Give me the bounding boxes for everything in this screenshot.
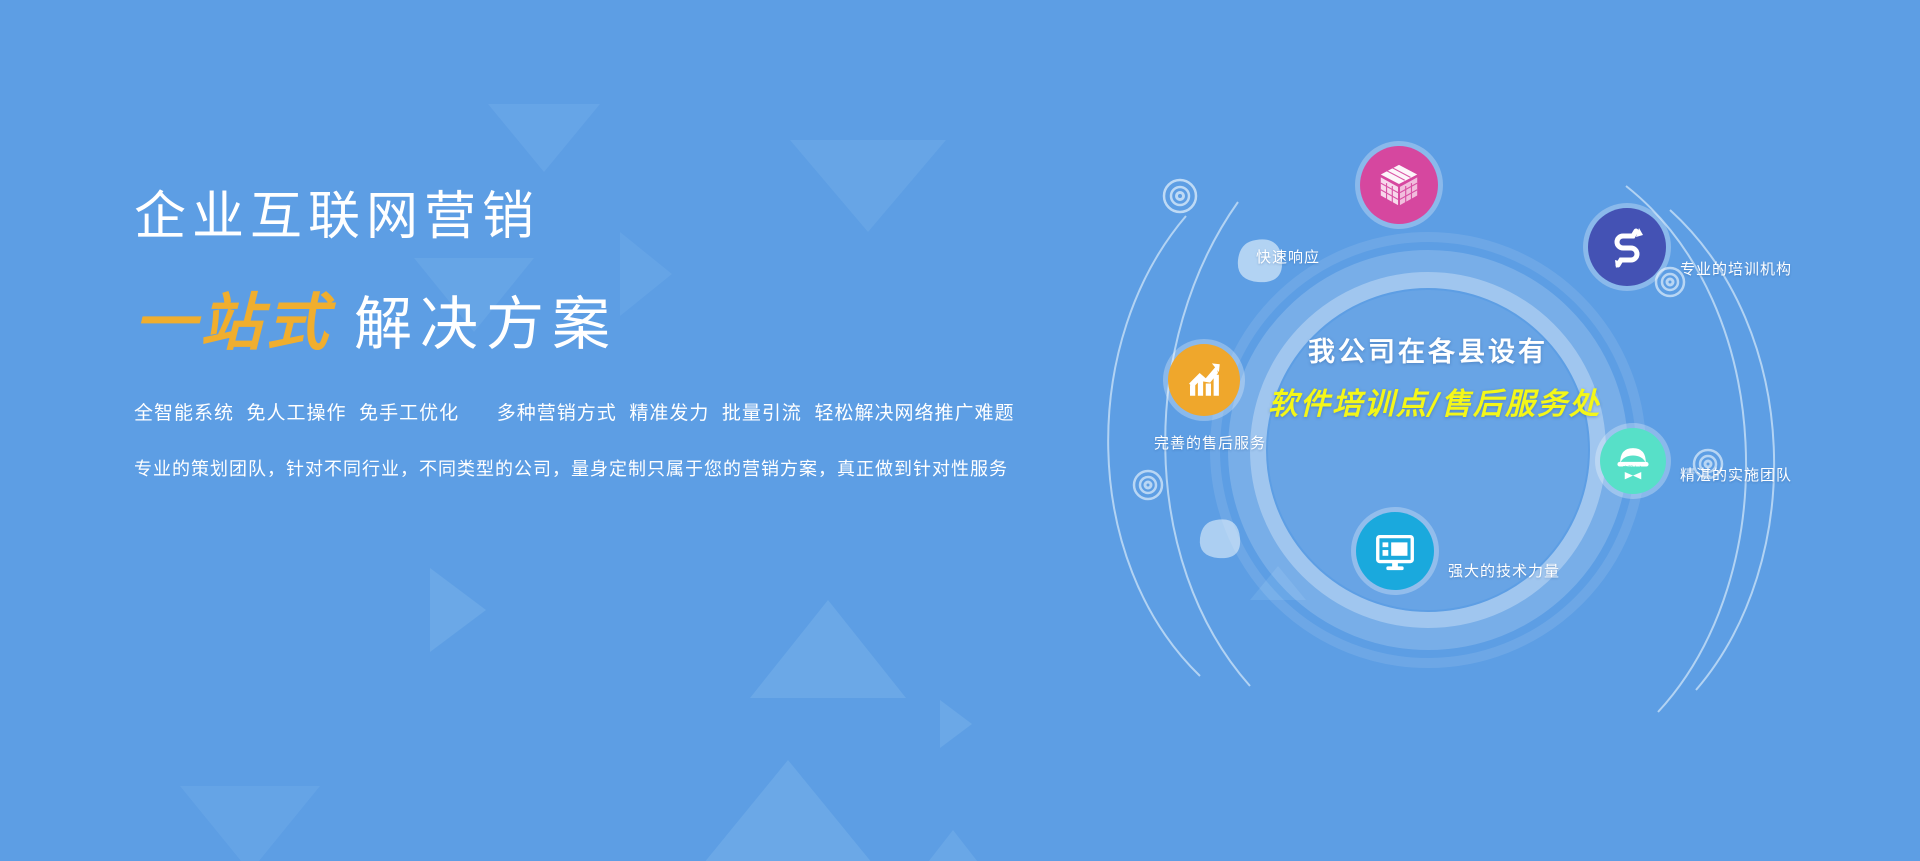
headline-rest: 解决方案	[354, 290, 618, 358]
growth-chart-icon	[1168, 344, 1240, 416]
center-text-line2: 软件培训点/售后服务处	[1268, 379, 1588, 423]
support-hat-icon-glyph: 客服中心	[1611, 439, 1655, 483]
growth-chart-icon-glyph	[1183, 359, 1225, 401]
headline-block: 企业互联网营销 一站式解决方案 全智能系统 免人工操作 免手工优化 多种营销方式…	[134, 185, 1054, 481]
target-marker-bottom-left	[1134, 471, 1162, 499]
support-hat-icon: 客服中心	[1600, 428, 1666, 494]
headline-accent: 一站式	[134, 286, 332, 359]
center-text-line1: 我公司在各县设有	[1268, 330, 1588, 369]
pencil-s-icon	[1588, 208, 1666, 286]
orbit-graphic: 我公司在各县设有 软件培训点/售后服务处	[1060, 90, 1900, 810]
page-title: 企业互联网营销	[134, 185, 1054, 250]
triangle-decor	[940, 700, 972, 748]
headline-secondary: 一站式解决方案	[134, 272, 1054, 362]
node-label: 精湛的实施团队	[1680, 464, 1792, 485]
monitor-icon-glyph	[1372, 528, 1418, 574]
orbit-arc-right	[1670, 210, 1774, 690]
triangle-decor	[925, 830, 981, 861]
svg-text:客服中心: 客服中心	[1623, 465, 1643, 472]
feature-line-2: 专业的策划团队，针对不同行业，不同类型的公司，量身定制只属于您的营销方案，真正做…	[134, 455, 1054, 481]
triangle-decor	[430, 568, 486, 652]
node-label: 完善的售后服务	[1154, 432, 1266, 453]
monitor-icon	[1356, 512, 1434, 590]
target-marker-top-left	[1164, 180, 1196, 212]
triangle-decor	[488, 104, 600, 172]
node-label: 强大的技术力量	[1448, 560, 1560, 581]
triangle-decor	[690, 760, 886, 861]
pencil-s-icon-glyph	[1603, 223, 1651, 271]
cube-icon-glyph	[1376, 162, 1422, 208]
triangle-decor	[180, 786, 320, 861]
banner-root: 企业互联网营销 一站式解决方案 全智能系统 免人工操作 免手工优化 多种营销方式…	[0, 0, 1920, 861]
triangle-decor	[750, 600, 906, 698]
feature-line-1: 全智能系统 免人工操作 免手工优化 多种营销方式 精准发力 批量引流 轻松解决网…	[134, 398, 1054, 425]
cube-icon	[1360, 146, 1438, 224]
node-label: 快速响应	[1256, 246, 1320, 267]
center-text-block: 我公司在各县设有 软件培训点/售后服务处	[1268, 330, 1588, 423]
node-label: 专业的培训机构	[1680, 258, 1792, 279]
